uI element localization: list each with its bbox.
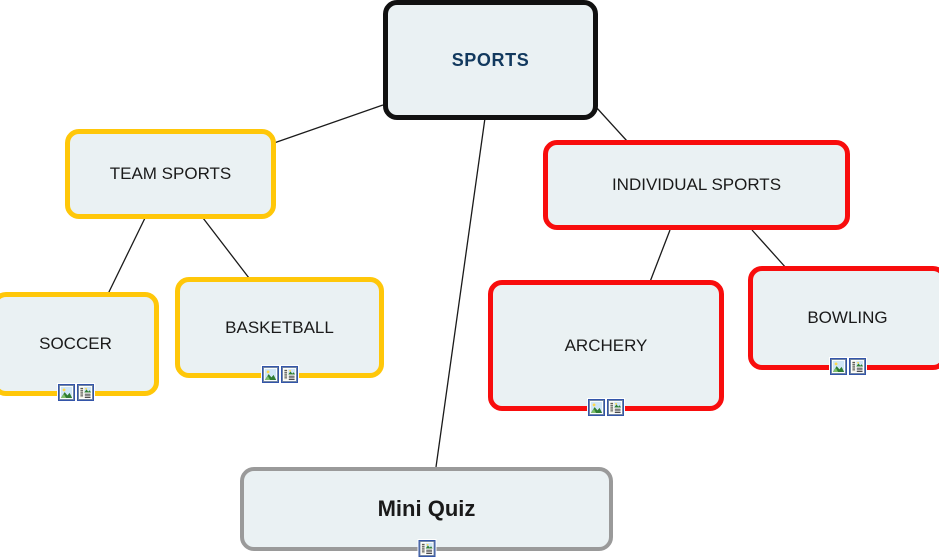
node-basketball[interactable]: BASKETBALL	[175, 277, 384, 378]
document-image-icon[interactable]	[849, 358, 866, 375]
node-label-sports: SPORTS	[442, 50, 540, 71]
node-label-mini-quiz: Mini Quiz	[368, 496, 486, 521]
node-bowling[interactable]: BOWLING	[748, 266, 939, 370]
edge-team-sports-to-basketball	[203, 218, 249, 278]
icon-strip-bowling	[830, 358, 866, 375]
image-icon[interactable]	[588, 399, 605, 416]
document-image-icon[interactable]	[77, 384, 94, 401]
edge-sports-to-individual-sports	[596, 107, 627, 141]
document-image-icon[interactable]	[418, 540, 435, 557]
node-label-basketball: BASKETBALL	[215, 318, 344, 338]
image-icon[interactable]	[58, 384, 75, 401]
node-mini-quiz[interactable]: Mini Quiz	[240, 467, 613, 551]
document-image-icon[interactable]	[281, 366, 298, 383]
node-label-archery: ARCHERY	[555, 336, 658, 356]
icon-strip-mini-quiz	[418, 540, 435, 557]
node-soccer[interactable]: SOCCER	[0, 292, 159, 396]
icon-strip-basketball	[262, 366, 298, 383]
node-label-bowling: BOWLING	[797, 308, 897, 328]
node-sports[interactable]: SPORTS	[383, 0, 598, 120]
node-team-sports[interactable]: TEAM SPORTS	[65, 129, 276, 219]
image-icon[interactable]	[262, 366, 279, 383]
node-individual-sports[interactable]: INDIVIDUAL SPORTS	[543, 140, 850, 230]
icon-strip-archery	[588, 399, 624, 416]
icon-strip-soccer	[58, 384, 94, 401]
edge-sports-to-team-sports	[274, 105, 383, 143]
node-label-individual-sports: INDIVIDUAL SPORTS	[602, 175, 791, 195]
edge-team-sports-to-soccer	[107, 218, 145, 296]
mind-map-canvas: SPORTSTEAM SPORTSINDIVIDUAL SPORTSSOCCER…	[0, 0, 939, 560]
document-image-icon[interactable]	[607, 399, 624, 416]
edge-sports-to-mini-quiz	[436, 118, 485, 467]
edge-individual-sports-to-archery	[648, 230, 670, 287]
edge-individual-sports-to-bowling	[752, 230, 787, 269]
node-label-soccer: SOCCER	[29, 334, 122, 354]
node-archery[interactable]: ARCHERY	[488, 280, 724, 411]
node-label-team-sports: TEAM SPORTS	[100, 164, 242, 184]
image-icon[interactable]	[830, 358, 847, 375]
